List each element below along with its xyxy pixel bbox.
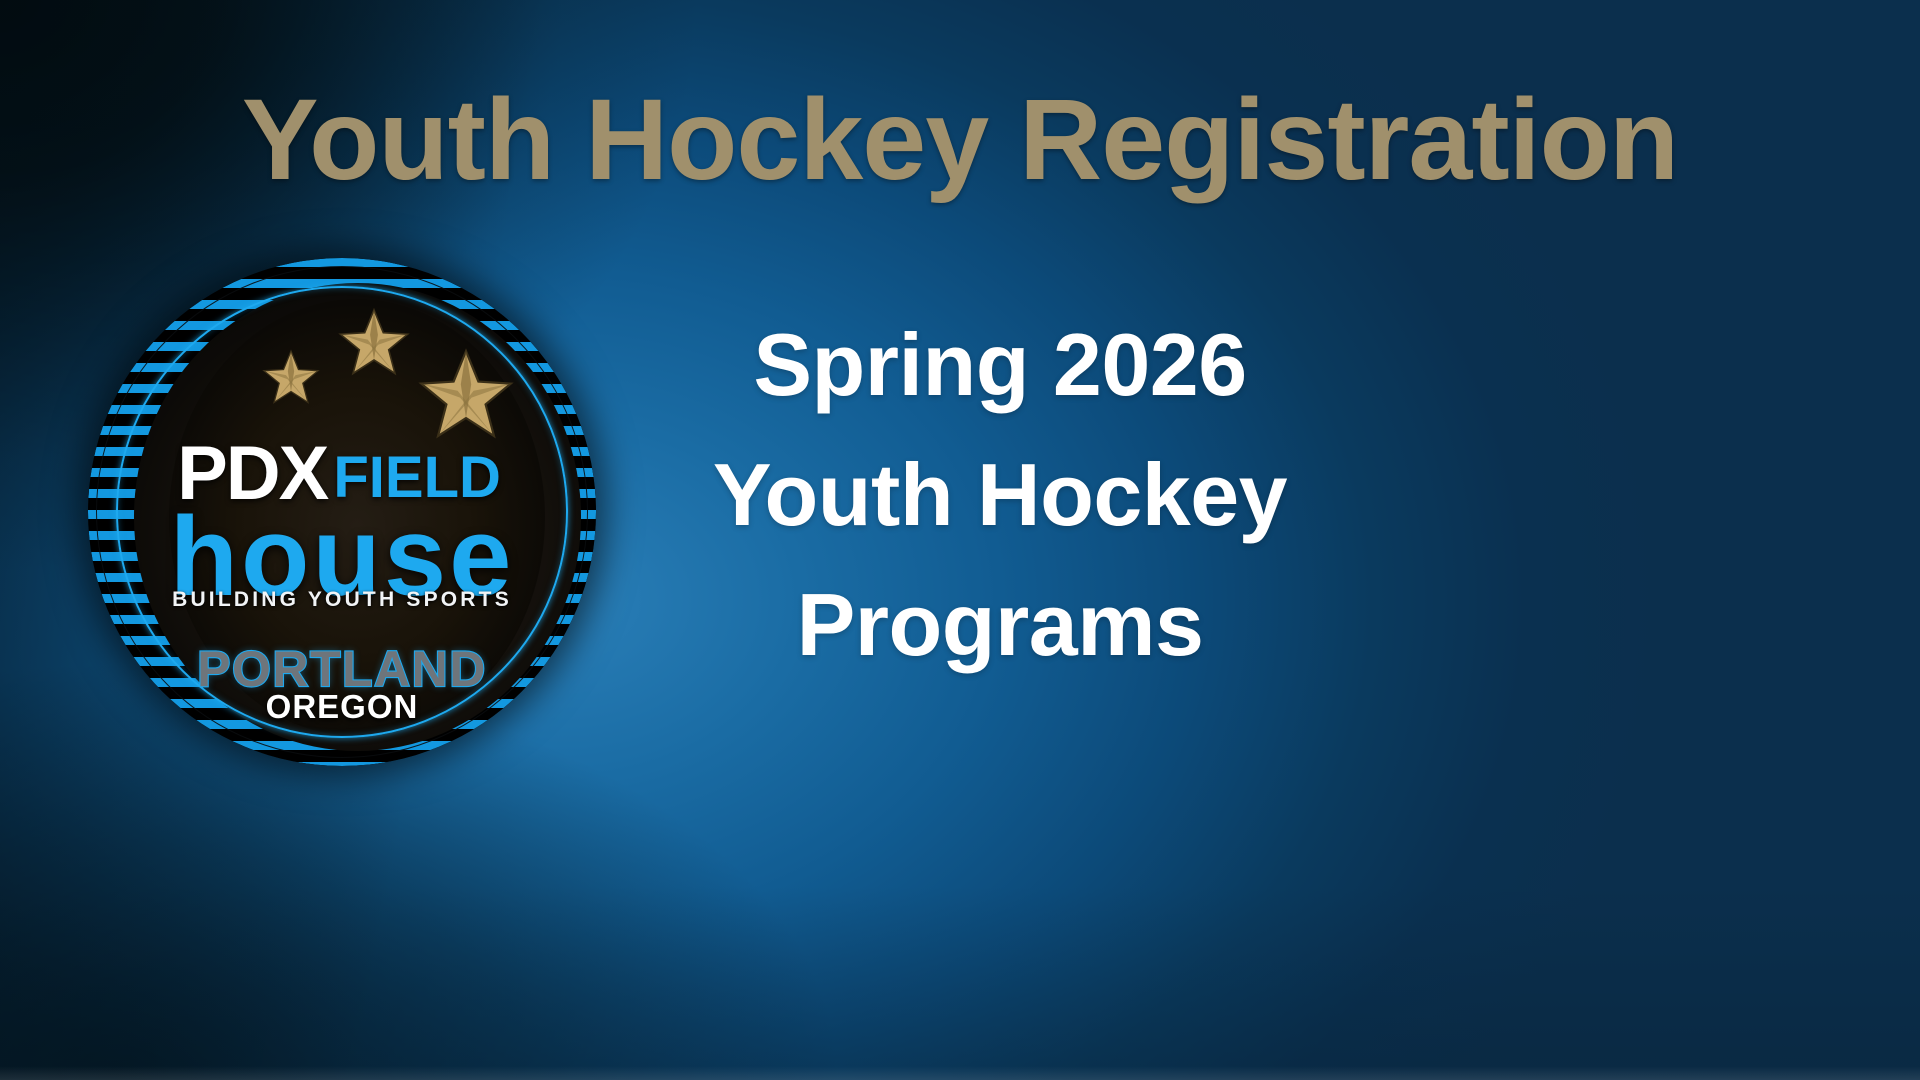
logo-state-text: OREGON	[88, 688, 596, 726]
gold-star-icon-right	[418, 346, 514, 442]
slide-canvas: Youth Hockey Registration	[0, 0, 1920, 1080]
pdx-fieldhouse-logo: PDX FIELD house BUILDING YOUTH SPORTS PO…	[88, 258, 596, 766]
logo-tagline-text: BUILDING YOUTH SPORTS	[88, 588, 596, 612]
gold-star-icon-center	[338, 306, 410, 378]
headline-line-1: Spring 2026	[620, 300, 1380, 430]
headline-block: Spring 2026 Youth Hockey Programs	[620, 300, 1380, 691]
gold-star-icon-left	[262, 348, 320, 406]
page-title: Youth Hockey Registration	[0, 78, 1920, 202]
background-bottom-edge	[0, 1066, 1920, 1080]
headline-line-3: Programs	[620, 560, 1380, 690]
headline-line-2: Youth Hockey	[620, 430, 1380, 560]
